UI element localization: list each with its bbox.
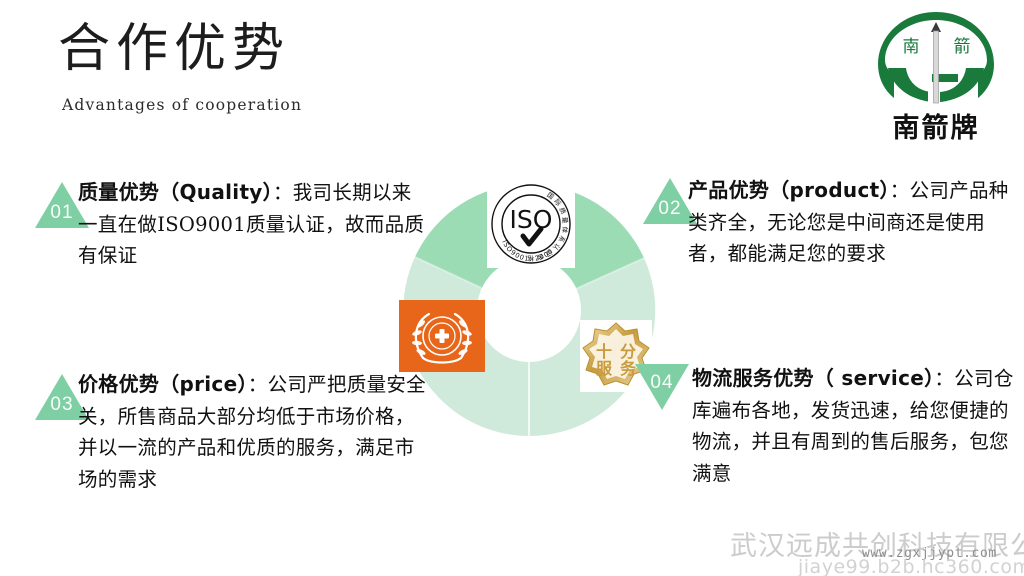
wreath-cross-emblem-icon bbox=[399, 300, 485, 372]
number-badge-03-label: 03 bbox=[50, 394, 73, 422]
service-badge-line2-char1: 服 bbox=[596, 359, 613, 378]
title-block: 合作优势 Advantages of cooperation bbox=[58, 18, 302, 114]
donut-center-hole bbox=[477, 258, 581, 362]
advantage-item-02-lead: 产品优势（product） bbox=[688, 178, 890, 202]
slide-canvas: 合作优势 Advantages of cooperation 南 箭 南箭牌 bbox=[0, 0, 1024, 576]
nanjian-circle-logo-icon: 南 箭 bbox=[866, 4, 1006, 119]
watermark-b2b-url: jiaye99.b2b.hc360.com bbox=[798, 556, 1024, 576]
organization-emblem-badge bbox=[399, 300, 485, 372]
donut-diagram: 国际质量体系认证合格 ISO9001: 2000 ISO bbox=[395, 162, 663, 458]
number-badge-04: 04 bbox=[634, 362, 690, 412]
advantage-item-03-lead: 价格优势（price） bbox=[78, 372, 248, 396]
page-subtitle: Advantages of cooperation bbox=[62, 96, 302, 114]
page-title: 合作优势 bbox=[58, 18, 302, 80]
advantage-item-01: 质量优势（Quality）：我司长期以来一直在做ISO9001质量认证，故而品质… bbox=[78, 176, 430, 272]
company-logo: 南 箭 南箭牌 bbox=[866, 4, 1006, 164]
number-badge-01-label: 01 bbox=[50, 202, 73, 230]
watermark-website: www.zgxjjypt.com bbox=[862, 546, 997, 561]
advantage-item-02: 产品优势（product）：公司产品种类齐全，无论您是中间商还是使用者，都能满足… bbox=[688, 174, 1012, 270]
svg-text:ISO: ISO bbox=[510, 205, 553, 234]
watermark-company: 武汉远成共创科技有限公司 bbox=[730, 524, 1024, 563]
number-badge-04-label: 04 bbox=[650, 362, 673, 394]
svg-text:南: 南 bbox=[903, 37, 920, 57]
iso-certificate-badge: 国际质量体系认证合格 ISO9001: 2000 ISO bbox=[487, 180, 575, 268]
svg-text:箭: 箭 bbox=[954, 37, 971, 57]
logo-brand-text: 南箭牌 bbox=[866, 115, 1006, 142]
advantage-item-03: 价格优势（price）：公司严把质量安全关，所售商品大部分均低于市场价格，并以一… bbox=[78, 368, 430, 495]
number-badge-02-label: 02 bbox=[658, 198, 681, 226]
advantage-item-04-lead: 物流服务优势（ service） bbox=[692, 366, 934, 390]
advantage-item-01-lead: 质量优势（Quality） bbox=[78, 180, 273, 204]
advantage-item-04: 物流服务优势（ service）：公司仓库遍布各地，发货迅速，给您便捷的物流，并… bbox=[692, 362, 1014, 489]
iso-seal-icon: 国际质量体系认证合格 ISO9001: 2000 ISO bbox=[487, 180, 575, 268]
